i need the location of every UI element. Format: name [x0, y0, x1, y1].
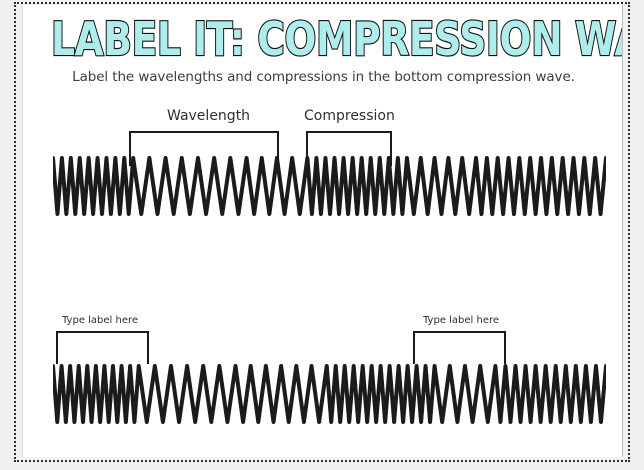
page-title-text: LABEL IT: COMPRESSION WAVE [51, 13, 623, 65]
label-placeholder-left[interactable]: Type label here [62, 315, 138, 326]
instructions-text: Label the wavelengths and compressions i… [23, 69, 623, 85]
compression-wave-answer [53, 360, 606, 428]
worksheet-page: LABEL IT: COMPRESSION WAVE Label the wav… [0, 0, 644, 470]
label-placeholder-right[interactable]: Type label here [423, 315, 499, 326]
worksheet-sheet: LABEL IT: COMPRESSION WAVE Label the wav… [22, 5, 623, 457]
compression-wave-example [53, 152, 606, 220]
label-wavelength: Wavelength [167, 108, 250, 124]
label-compression: Compression [304, 108, 395, 124]
page-title: LABEL IT: COMPRESSION WAVE [23, 13, 623, 59]
